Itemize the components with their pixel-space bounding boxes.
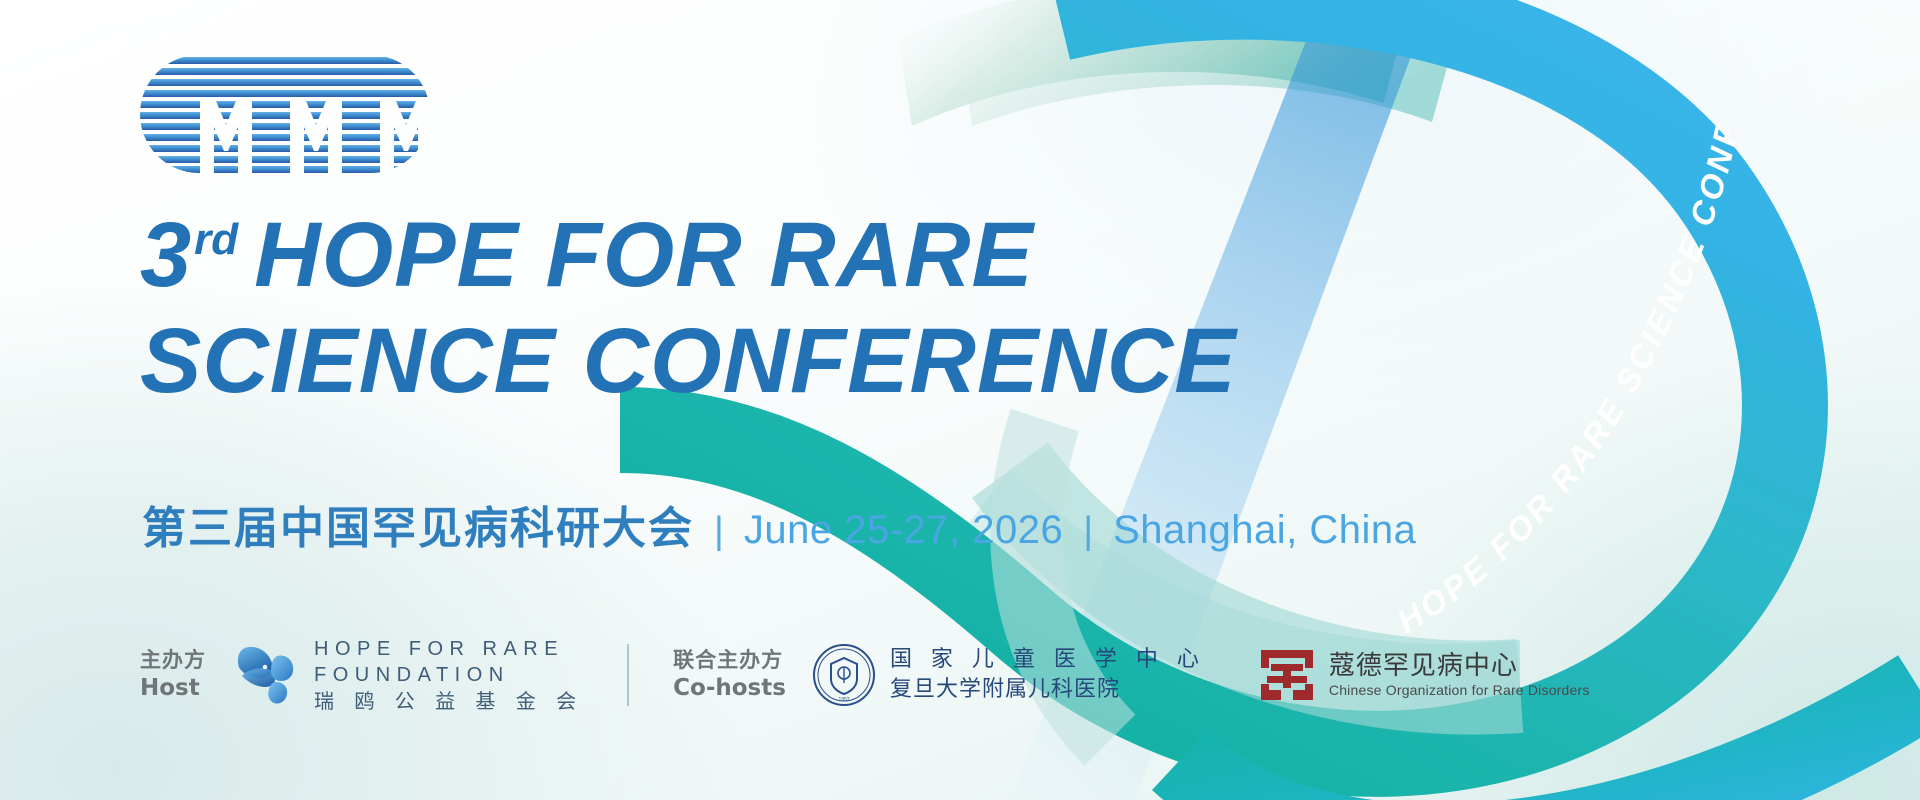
seal-year: 1952 — [838, 697, 849, 703]
sponsor-divider — [627, 644, 629, 706]
subtitle-separator-1: | — [714, 510, 724, 553]
cord-en-name: Chinese Organization for Rare Disorders — [1329, 682, 1590, 699]
hope-for-rare-foundation-text: HOPE FOR RARE FOUNDATION 瑞 鸥 公 益 基 金 会 — [314, 636, 583, 714]
cord-cn-name: 蔻德罕见病中心 — [1329, 651, 1590, 682]
host-label-en: Host — [140, 674, 206, 702]
hfr-cn-line: 瑞 鸥 公 益 基 金 会 — [314, 688, 583, 714]
cord-text: 蔻德罕见病中心 Chinese Organization for Rare Di… — [1329, 651, 1590, 699]
fudan-line-1: 国 家 儿 童 医 学 中 心 — [890, 645, 1205, 675]
cohost-org-fudan-childrens-hospital: 1952 国 家 儿 童 医 学 中 心 复旦大学附属儿科医院 — [812, 643, 1205, 707]
subtitle-row: 第三届中国罕见病科研大会 | June 25-27, 2026 | Shangh… — [142, 492, 1416, 556]
conference-banner: HOPE FOR RARE SCIENCE CONFERENCE — [0, 0, 1920, 800]
cohosts-label-cn: 联合主办方 — [673, 648, 786, 674]
host-org-hope-for-rare-foundation: HOPE FOR RARE FOUNDATION 瑞 鸥 公 益 基 金 会 — [232, 636, 583, 714]
fudan-line-2: 复旦大学附属儿科医院 — [890, 675, 1205, 705]
host-label: 主办方 Host — [140, 648, 206, 702]
headline-line-1-text: HOPE FOR RARE — [254, 204, 1034, 306]
conference-location: Shanghai, China — [1113, 508, 1416, 553]
hfr-en-line-1: HOPE FOR RARE — [314, 636, 583, 662]
cohosts-label-en: Co-hosts — [673, 674, 786, 702]
cohost-org-cord: 蔻德罕见病中心 Chinese Organization for Rare Di… — [1257, 646, 1590, 704]
hfr-en-line-2: FOUNDATION — [314, 662, 583, 688]
headline-block: 3rdHOPE FOR RARE SCIENCE CONFERENCE — [140, 210, 1440, 406]
cord-seal-mark-icon — [1257, 646, 1317, 704]
chinese-conference-title: 第三届中国罕见病科研大会 — [142, 492, 694, 556]
fudan-hospital-text: 国 家 儿 童 医 学 中 心 复旦大学附属儿科医院 — [890, 645, 1205, 704]
fudan-childrens-hospital-seal-icon: 1952 — [812, 643, 876, 707]
host-label-cn: 主办方 — [140, 648, 206, 674]
sponsor-strip: 主办方 Host HOPE FOR RAR — [140, 636, 1590, 714]
headline-line-2: SCIENCE CONFERENCE — [140, 316, 1440, 406]
headline-line-1: 3rdHOPE FOR RARE — [140, 210, 1440, 300]
ordinal-suffix: rd — [194, 215, 238, 264]
conference-dates: June 25-27, 2026 — [744, 508, 1063, 553]
hope-for-rare-bird-mark-icon — [232, 644, 298, 706]
ordinal-number: 3 — [140, 204, 192, 306]
subtitle-separator-2: | — [1083, 510, 1093, 553]
cohosts-label: 联合主办方 Co-hosts — [673, 648, 786, 702]
hope-for-rare-striped-mark-icon — [140, 55, 430, 173]
